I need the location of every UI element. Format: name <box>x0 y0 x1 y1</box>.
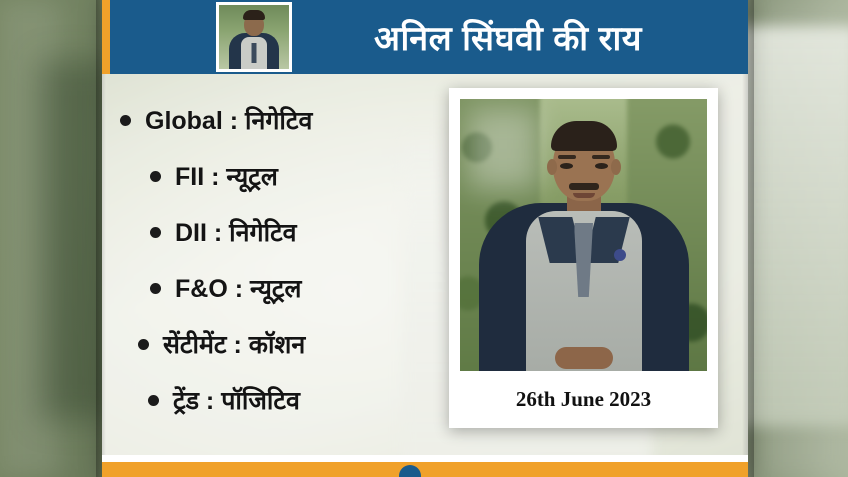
list-item: FII : न्यूट्रल <box>120 148 450 204</box>
list-item-label: ट्रेंड : पॉजिटिव <box>173 383 300 417</box>
person-portrait-icon <box>460 99 707 371</box>
list-item: सेंटीमेंट : कॉशन <box>120 316 450 372</box>
anchor-portrait-icon <box>216 2 292 72</box>
portrait-moustache <box>569 183 599 190</box>
logo-dot-blue <box>399 465 421 477</box>
list-item: DII : निगेटिव <box>120 204 450 260</box>
portrait-mouth <box>573 193 595 198</box>
portrait-lapel-pin <box>614 249 626 261</box>
portrait-brow-right <box>592 155 610 159</box>
logo-dot-amber <box>427 465 449 477</box>
polaroid-frame: 26th June 2023 <box>449 88 718 428</box>
bullet-dot-icon <box>150 283 161 294</box>
screenshot-root: अनिल सिंघवी की राय Global : निगेटिव FII … <box>0 0 848 477</box>
channel-logo-icon <box>370 459 478 477</box>
portrait-hands <box>555 347 613 369</box>
anchor-tie-shape <box>252 43 257 63</box>
header-accent-bar <box>102 0 110 74</box>
list-item-label: सेंटीमेंट : कॉशन <box>163 327 305 361</box>
bullet-dot-icon <box>150 171 161 182</box>
list-item-label: FII : न्यूट्रल <box>175 159 278 193</box>
anchor-hair-shape <box>243 10 265 20</box>
bullet-dot-icon <box>120 115 131 126</box>
list-item-label: Global : निगेटिव <box>145 103 312 137</box>
opinion-list: Global : निगेटिव FII : न्यूट्रल DII : नि… <box>120 92 450 428</box>
page-title: अनिल सिंघवी की राय <box>288 0 728 74</box>
light-flare <box>468 109 538 189</box>
list-item-label: F&O : न्यूट्रल <box>175 271 301 305</box>
portrait-hair <box>551 121 617 151</box>
photo-caption: 26th June 2023 <box>460 371 707 428</box>
bullet-dot-icon <box>148 395 159 406</box>
portrait-eye-left <box>560 163 573 169</box>
anchor-portrait-inner <box>219 5 289 69</box>
header-band: अनिल सिंघवी की राय <box>102 0 748 74</box>
portrait-eye-right <box>595 163 608 169</box>
list-item: F&O : न्यूट्रल <box>120 260 450 316</box>
bullet-dot-icon <box>138 339 149 350</box>
portrait-ear-left <box>547 159 557 175</box>
list-item: ट्रेंड : पॉजिटिव <box>120 372 450 428</box>
portrait-brow-left <box>558 155 576 159</box>
list-item: Global : निगेटिव <box>120 92 450 148</box>
portrait-ear-right <box>611 159 621 175</box>
bullet-dot-icon <box>150 227 161 238</box>
list-item-label: DII : निगेटिव <box>175 215 297 249</box>
